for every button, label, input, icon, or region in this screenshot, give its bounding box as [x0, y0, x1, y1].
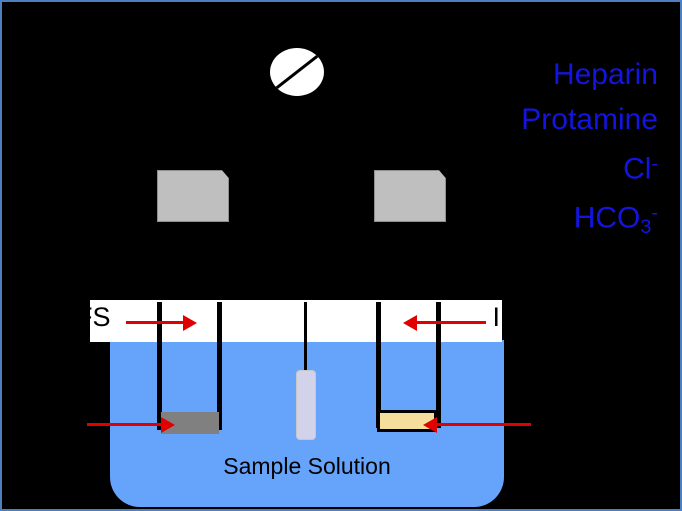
- meter-needle-icon: [272, 52, 323, 93]
- arrow-top-right: [416, 321, 486, 324]
- species-bicarbonate-charge: -: [651, 202, 658, 224]
- right-electrode-label: IP: [492, 302, 502, 333]
- left-electrode-label: FS: [90, 302, 111, 333]
- right-amplifier-module: [374, 170, 446, 222]
- species-bicarbonate-subscript: 3: [640, 216, 651, 238]
- arrowhead-left-icon: [423, 417, 437, 433]
- electrochemical-sensor-diagram: Heparin Protamine Cl- HCO3- Sample Solut…: [0, 0, 682, 511]
- arrow-top-left: [126, 321, 184, 324]
- reference-electrode-body: [296, 370, 316, 440]
- arrowhead-right-icon: [161, 417, 175, 433]
- arrowhead-left-icon: [403, 315, 417, 331]
- left-electrode-wall-inner: [217, 302, 222, 430]
- species-protamine: Protamine: [358, 97, 658, 142]
- solution-label: Sample Solution: [110, 453, 504, 480]
- arrow-bottom-right: [436, 423, 531, 426]
- arrow-bottom-left: [87, 423, 162, 426]
- species-bicarbonate-base: HCO: [574, 202, 641, 235]
- species-chloride-charge: -: [651, 153, 658, 175]
- meter-circle-icon: [270, 48, 324, 96]
- left-amplifier-module: [157, 170, 229, 222]
- arrowhead-right-icon: [183, 315, 197, 331]
- species-heparin: Heparin: [358, 52, 658, 97]
- species-chloride-base: Cl: [623, 152, 651, 185]
- reference-electrode-stem: [304, 302, 307, 374]
